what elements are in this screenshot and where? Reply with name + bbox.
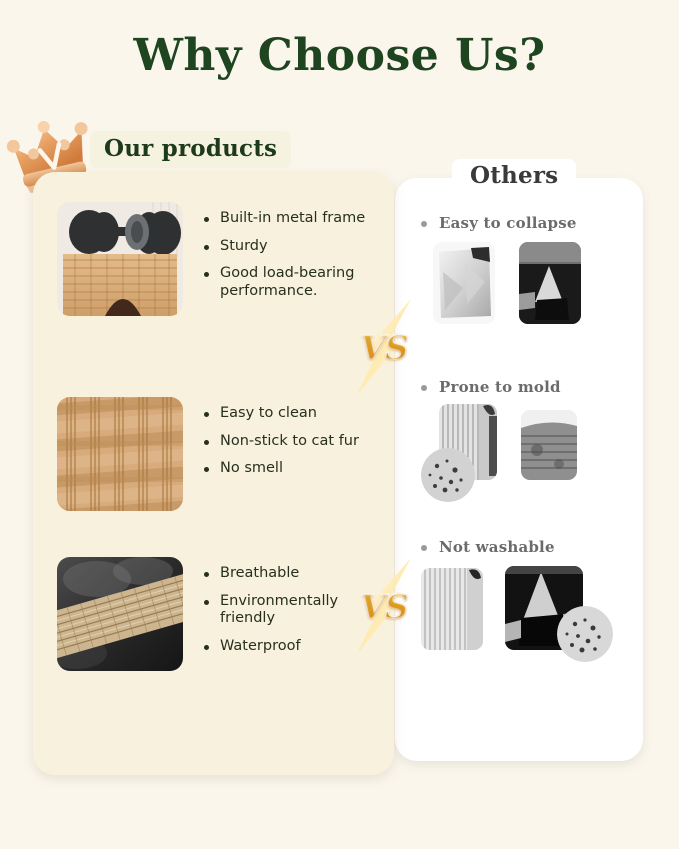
others-row-images <box>421 240 631 350</box>
others-row-images <box>421 564 631 674</box>
bullet-item: Environmentally friendly <box>203 593 381 628</box>
our-products-card: Built-in metal frame Sturdy Good load-be… <box>33 172 394 775</box>
image-basket-with-dumbbell <box>57 202 183 316</box>
product-row: Easy to clean Non-stick to cat fur No sm… <box>57 397 381 511</box>
image-moldy-surface-closeup <box>521 410 577 480</box>
image-dark-collapsed-bin <box>519 242 581 324</box>
bullet-item: No smell <box>203 460 381 478</box>
image-collapsed-fabric-bin <box>433 242 495 324</box>
our-products-label: Our products <box>90 131 291 168</box>
others-label: Others <box>452 159 576 194</box>
bullet-item: Breathable <box>203 565 381 583</box>
image-mold-spot-circle <box>421 448 475 502</box>
others-row-images <box>421 404 631 514</box>
image-stain-spot-circle <box>557 606 613 662</box>
bullet-item: Sturdy <box>203 238 381 256</box>
bullet-item: Non-stick to cat fur <box>203 433 381 451</box>
others-row-heading: Easy to collapse <box>421 214 631 232</box>
others-card: Easy to collapse <box>395 178 643 761</box>
product-row: Breathable Environmentally friendly Wate… <box>57 557 381 671</box>
bullet-item: Easy to clean <box>203 405 381 423</box>
others-row-heading: Prone to mold <box>421 378 631 396</box>
bullet-item: Good load-bearing performance. <box>203 265 381 300</box>
product-row: Built-in metal frame Sturdy Good load-be… <box>57 202 381 316</box>
others-row-heading: Not washable <box>421 538 631 556</box>
others-row: Easy to collapse <box>421 214 631 350</box>
bullet-item: Built-in metal frame <box>203 210 381 228</box>
product-bullet-list: Breathable Environmentally friendly Wate… <box>203 557 381 656</box>
others-row: Not washable <box>421 538 631 674</box>
image-stained-fabric-bin <box>421 568 483 650</box>
bullet-item: Waterproof <box>203 638 381 656</box>
image-woven-rattan-texture <box>57 397 183 511</box>
page-title: Why Choose Us? <box>0 30 679 81</box>
image-breathable-weave-closeup <box>57 557 183 671</box>
product-bullet-list: Easy to clean Non-stick to cat fur No sm… <box>203 397 381 478</box>
others-row: Prone to mold <box>421 378 631 514</box>
product-bullet-list: Built-in metal frame Sturdy Good load-be… <box>203 202 381 301</box>
